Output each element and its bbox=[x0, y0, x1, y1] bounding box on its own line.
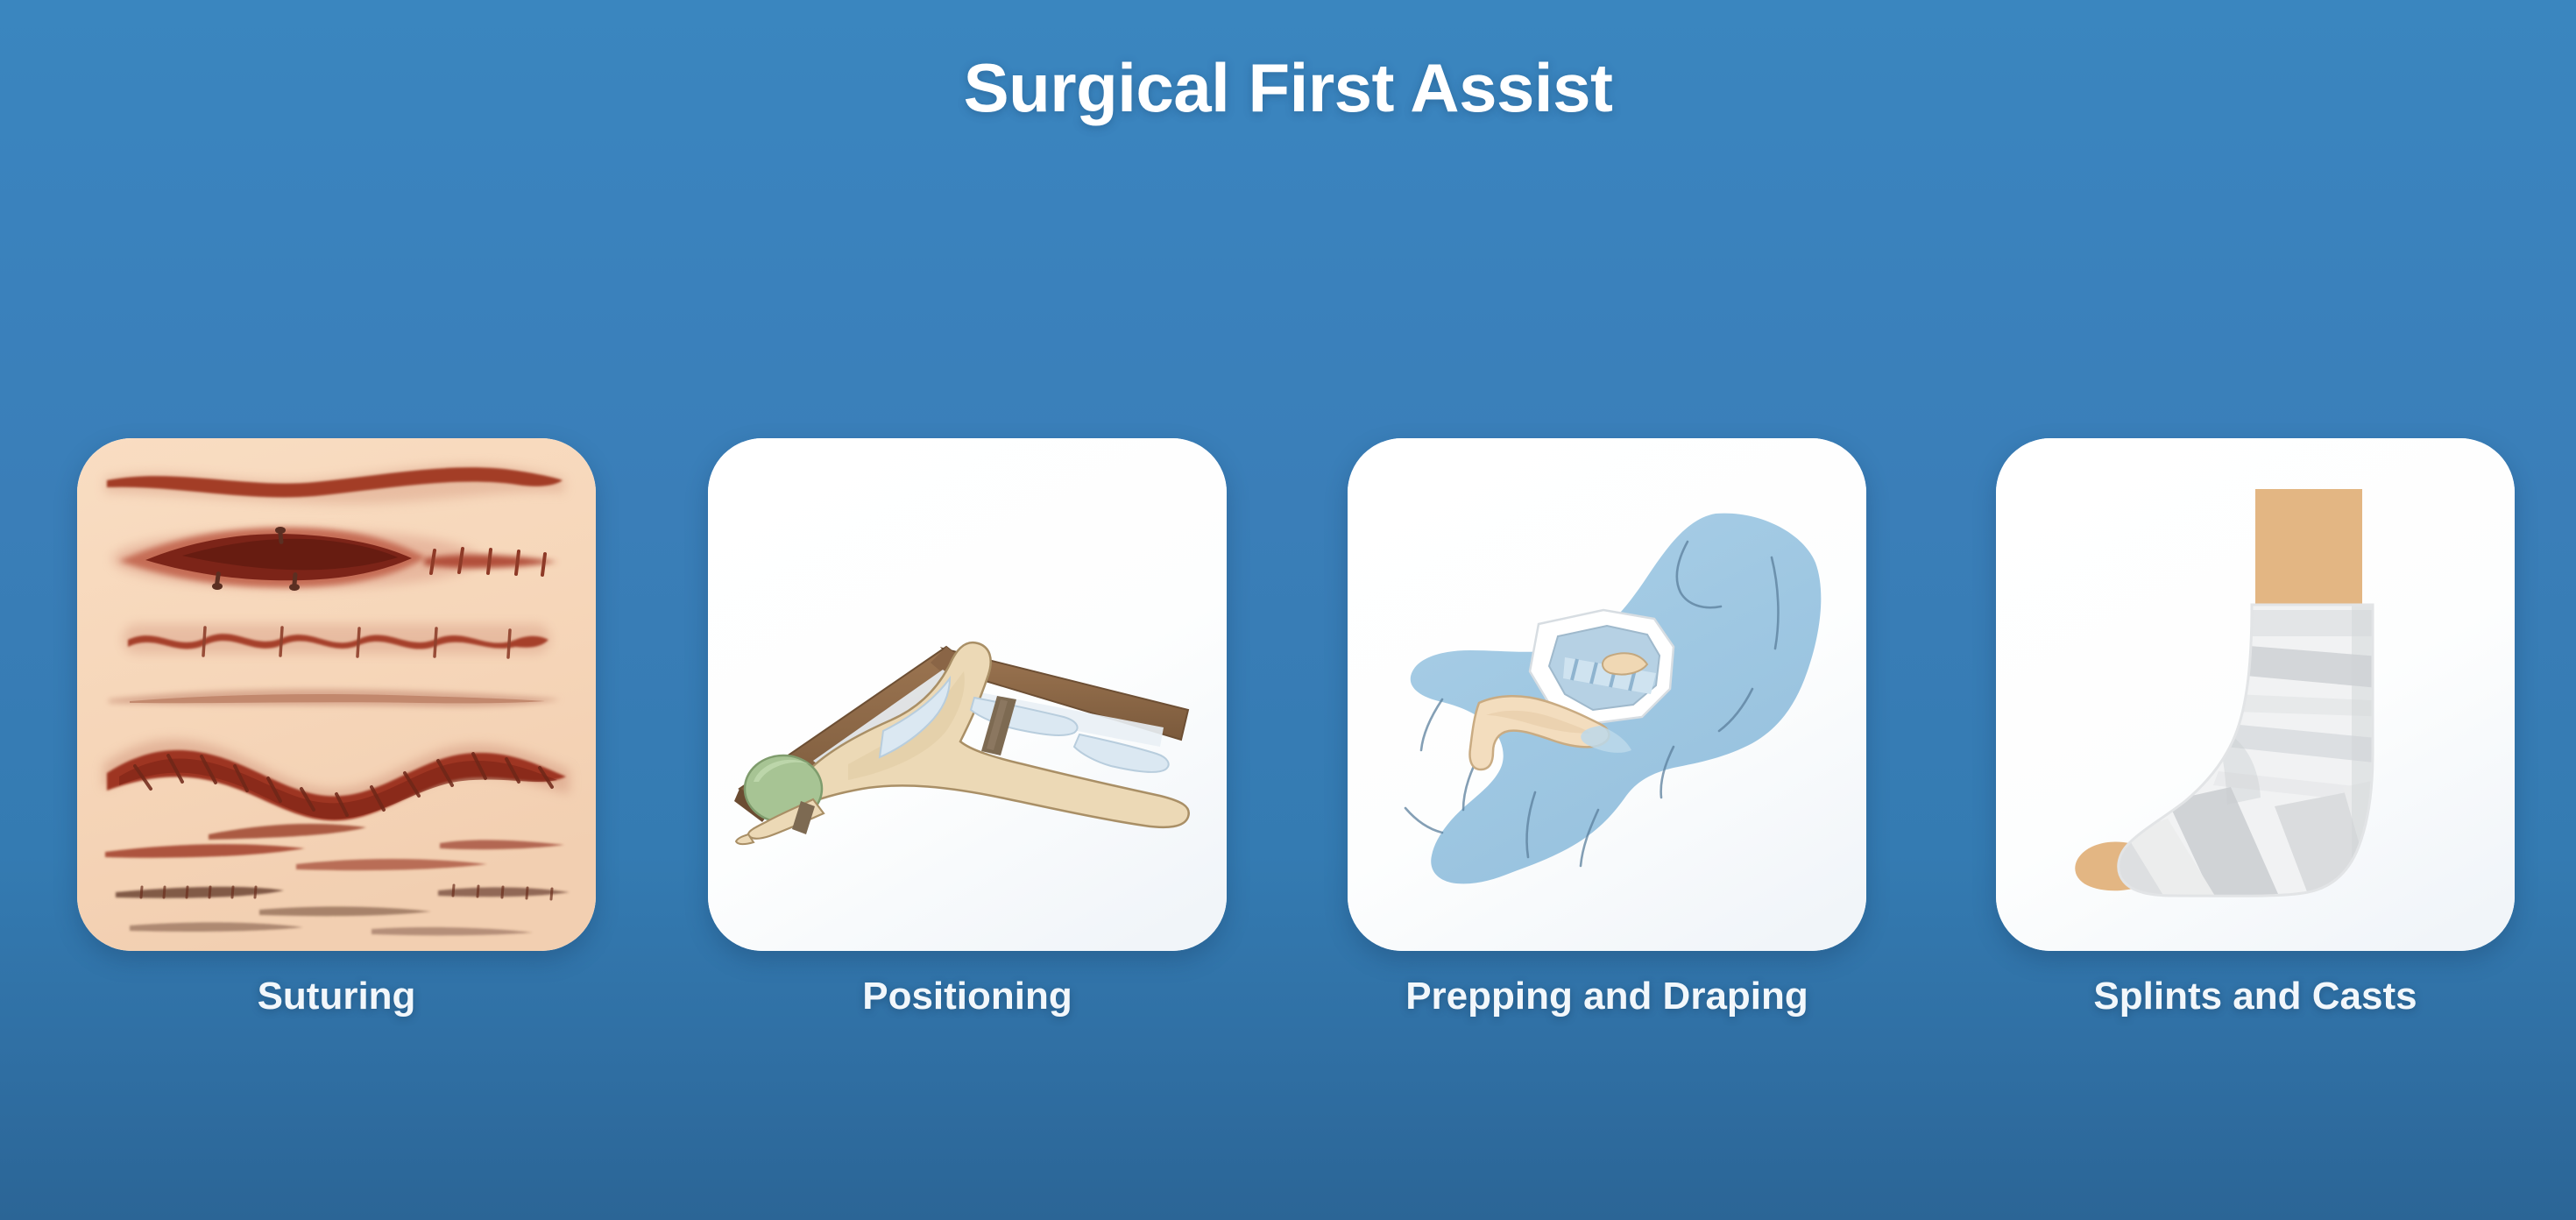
card-surface-prepping-and-draping[interactable] bbox=[1348, 438, 1866, 951]
bandaged-foot-cast-illustration-icon bbox=[1996, 438, 2515, 951]
topic-card-row: Suturing bbox=[0, 438, 2576, 1122]
topic-card-suturing[interactable]: Suturing bbox=[77, 438, 596, 1122]
topic-card-prepping-and-draping[interactable]: Prepping and Draping bbox=[1348, 438, 1866, 1122]
card-surface-positioning[interactable] bbox=[708, 438, 1227, 951]
card-label-prepping-and-draping: Prepping and Draping bbox=[1348, 975, 1866, 1018]
topic-card-splints-and-casts[interactable]: Splints and Casts bbox=[1996, 438, 2515, 1122]
page-title: Surgical First Assist bbox=[0, 48, 2576, 128]
prone-jackknife-position-illustration-icon bbox=[708, 438, 1227, 951]
card-label-splints-and-casts: Splints and Casts bbox=[1996, 975, 2515, 1018]
card-surface-splints-and-casts[interactable] bbox=[1996, 438, 2515, 951]
card-label-positioning: Positioning bbox=[708, 975, 1227, 1018]
wound-lacerations-illustration-icon bbox=[77, 438, 596, 951]
surgical-drape-illustration-icon bbox=[1348, 438, 1866, 951]
card-surface-suturing[interactable] bbox=[77, 438, 596, 951]
slide-root: Surgical First Assist bbox=[0, 0, 2576, 1220]
topic-card-positioning[interactable]: Positioning bbox=[708, 438, 1227, 1122]
card-label-suturing: Suturing bbox=[77, 975, 596, 1018]
